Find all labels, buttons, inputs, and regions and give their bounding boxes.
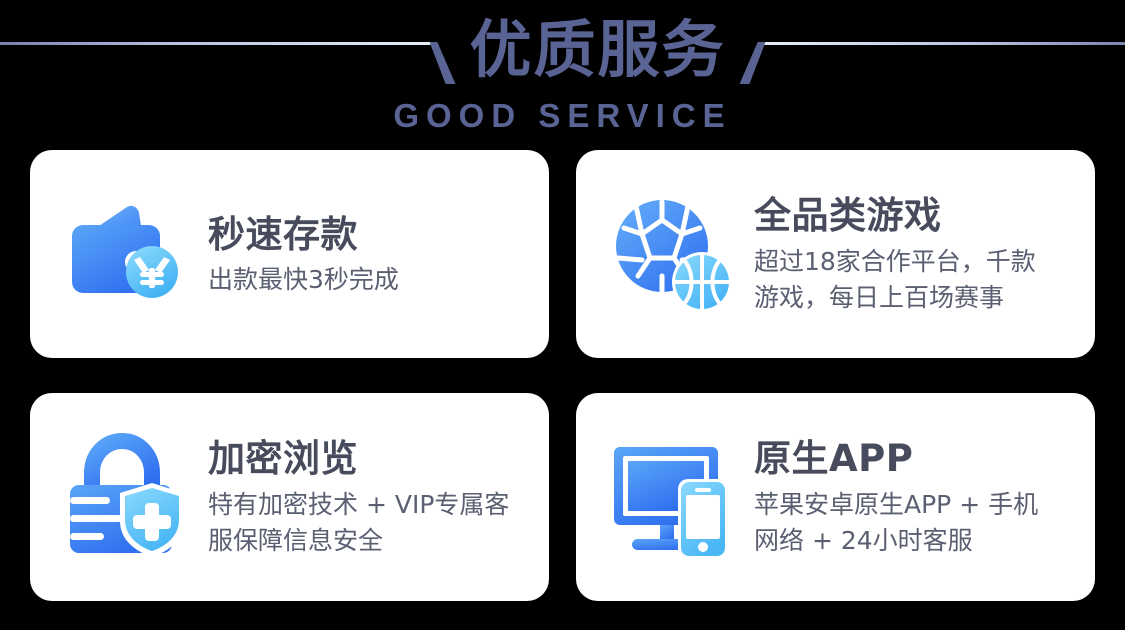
soccer-basketball-icon: [610, 190, 738, 318]
lock-shield-icon: [64, 433, 192, 561]
card-text-block: 加密浏览 特有加密技术 + VIP专属客 服保障信息安全: [208, 436, 549, 559]
right-rule-line: [760, 42, 1125, 45]
card-description-line: 网络 + 24小时客服: [754, 523, 1079, 559]
feature-card-instant-deposit[interactable]: 秒速存款 出款最快3秒完成: [30, 150, 549, 358]
feature-card-all-category-games[interactable]: 全品类游戏 超过18家合作平台，千款 游戏，每日上百场赛事: [576, 150, 1095, 358]
card-title: 全品类游戏: [754, 193, 1079, 238]
card-title: 原生APP: [754, 436, 1079, 481]
card-title: 秒速存款: [208, 212, 533, 257]
card-description: 特有加密技术 + VIP专属客 服保障信息安全: [208, 487, 533, 559]
page-subtitle: GOOD SERVICE: [0, 96, 1125, 136]
card-text-block: 全品类游戏 超过18家合作平台，千款 游戏，每日上百场赛事: [754, 193, 1095, 316]
card-description-line: 苹果安卓原生APP + 手机: [754, 487, 1079, 523]
right-decorative-rule: [760, 20, 1125, 80]
wallet-yen-icon: [64, 190, 192, 318]
card-description: 超过18家合作平台，千款 游戏，每日上百场赛事: [754, 244, 1079, 316]
feature-card-native-app[interactable]: 原生APP 苹果安卓原生APP + 手机 网络 + 24小时客服: [576, 393, 1095, 601]
card-text-block: 秒速存款 出款最快3秒完成: [208, 212, 549, 297]
service-feature-banner: 优质服务 GOOD SERVICE: [0, 0, 1125, 630]
monitor-phone-icon: [610, 433, 738, 561]
card-description: 苹果安卓原生APP + 手机 网络 + 24小时客服: [754, 487, 1079, 559]
left-decorative-rule: [0, 20, 436, 80]
card-description: 出款最快3秒完成: [208, 263, 533, 297]
card-title: 加密浏览: [208, 436, 533, 481]
card-description-line: 游戏，每日上百场赛事: [754, 280, 1079, 316]
card-description-line: 超过18家合作平台，千款: [754, 244, 1079, 280]
card-text-block: 原生APP 苹果安卓原生APP + 手机 网络 + 24小时客服: [754, 436, 1095, 559]
title-row: 优质服务: [0, 8, 1125, 92]
feature-card-grid: 秒速存款 出款最快3秒完成: [30, 150, 1095, 601]
left-rule-line: [0, 42, 436, 45]
banner-header: 优质服务 GOOD SERVICE: [0, 0, 1125, 146]
page-title: 优质服务: [436, 14, 760, 86]
card-description-line: 服保障信息安全: [208, 523, 533, 559]
card-description-line: 特有加密技术 + VIP专属客: [208, 487, 533, 523]
feature-card-encrypted-browsing[interactable]: 加密浏览 特有加密技术 + VIP专属客 服保障信息安全: [30, 393, 549, 601]
